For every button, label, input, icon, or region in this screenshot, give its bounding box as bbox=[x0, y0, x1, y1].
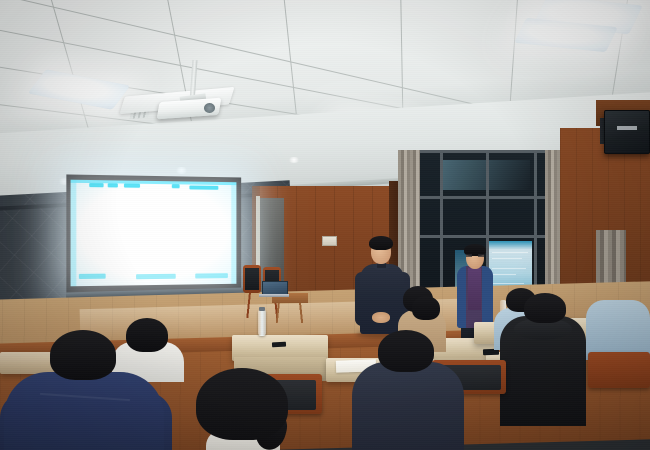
screen-bleed-mark bbox=[189, 185, 218, 189]
laptop-base[interactable] bbox=[259, 294, 289, 297]
water-bottle[interactable] bbox=[258, 310, 266, 336]
projection-screen bbox=[71, 180, 237, 287]
mobile-phone[interactable] bbox=[272, 342, 286, 348]
screen-bleed-mark bbox=[195, 273, 228, 278]
attendee-hair bbox=[412, 296, 440, 320]
eyeglasses-icon bbox=[466, 254, 484, 257]
glow-text-line bbox=[492, 258, 522, 259]
wall-speaker bbox=[604, 110, 650, 154]
attendee-dark-suit-hair bbox=[378, 330, 434, 372]
speaker-brand-label bbox=[617, 126, 637, 130]
attendee-far-right-body bbox=[586, 300, 650, 360]
screen-bleed-mark bbox=[79, 274, 106, 279]
attendee-black-hoodie-hair bbox=[524, 293, 566, 323]
attendee-navy-jacket-hair bbox=[50, 330, 116, 380]
attendee-dark-suit-body bbox=[352, 362, 464, 450]
presenter-hands bbox=[372, 312, 390, 323]
recessed-downlight bbox=[288, 157, 300, 163]
attendee-white-top-hair bbox=[126, 318, 168, 352]
standing-man-shirt bbox=[468, 268, 481, 310]
glow-text-line bbox=[492, 252, 528, 253]
attendee-ponytail-hair bbox=[196, 368, 288, 440]
stage-table-legs bbox=[276, 301, 306, 323]
conference-room-photo: dark navy sweater / jacket blue jacket o… bbox=[0, 0, 650, 450]
attendee-navy-jacket-body bbox=[4, 372, 164, 450]
chair-back[interactable] bbox=[588, 352, 650, 388]
stage-chair-pad bbox=[245, 268, 259, 290]
water-bottle-cap bbox=[259, 307, 265, 311]
window-reflection bbox=[440, 160, 530, 190]
glow-text-line bbox=[492, 283, 524, 284]
presenter-hair bbox=[369, 236, 393, 250]
glow-text-line bbox=[492, 274, 516, 275]
glow-text-line bbox=[492, 268, 526, 269]
screen-bleed-mark bbox=[136, 274, 176, 280]
light-switch-plate[interactable] bbox=[322, 236, 337, 246]
screen-bleed-mark bbox=[124, 184, 140, 188]
screen-bleed-mark bbox=[89, 183, 103, 187]
screen-bleed-mark bbox=[108, 183, 118, 187]
screen-bleed-mark bbox=[172, 184, 180, 188]
recessed-downlight bbox=[175, 167, 188, 174]
